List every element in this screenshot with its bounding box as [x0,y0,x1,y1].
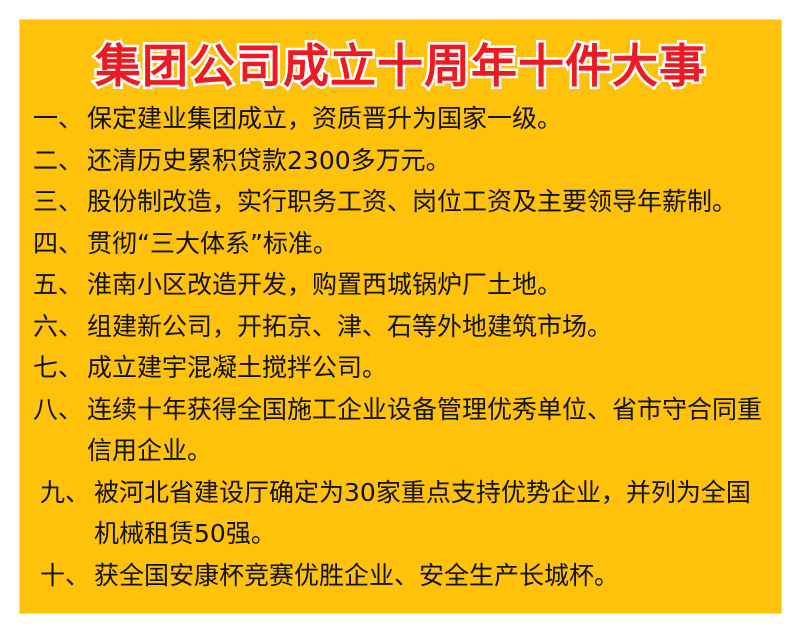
list-item: 一、 保定建业集团成立，资质晋升为国家一级。 [33,98,771,140]
list-item: 五、 淮南小区改造开发，购置西城锅炉厂土地。 [33,264,771,306]
list-item-text: 获全国安康杯竞赛优胜企业、安全生产长城杯。 [94,555,771,597]
list-item-number: 二、 [33,140,87,182]
list-item-number: 十、 [40,555,94,597]
list-item: 八、 连续十年获得全国施工企业设备管理优秀单位、省市守合同重信用企业。 [33,389,771,472]
list-item-number: 七、 [33,347,87,389]
list-item-text: 保定建业集团成立，资质晋升为国家一级。 [87,98,771,140]
list-item-number: 四、 [33,223,87,265]
list-item: 七、 成立建宇混凝土搅拌公司。 [33,347,771,389]
list-item-text: 被河北省建设厅确定为30家重点支持优势企业，并列为全国机械租赁50强。 [94,472,771,555]
list-item-text: 淮南小区改造开发，购置西城锅炉厂土地。 [87,264,771,306]
list-item: 二、 还清历史累积贷款2300多万元。 [33,140,771,182]
list-item: 十、 获全国安康杯竞赛优胜企业、安全生产长城杯。 [33,555,771,597]
list-item-text: 组建新公司，开拓京、津、石等外地建筑市场。 [87,306,771,348]
list-item-number: 六、 [33,306,87,348]
list-item-text: 还清历史累积贷款2300多万元。 [87,140,771,182]
list-item-text: 贯彻“三大体系”标准。 [87,223,771,265]
list-item-text: 连续十年获得全国施工企业设备管理优秀单位、省市守合同重信用企业。 [87,389,771,472]
list-item: 九、 被河北省建设厅确定为30家重点支持优势企业，并列为全国机械租赁50强。 [33,472,771,555]
list-item-number: 一、 [33,98,87,140]
list-item-number: 五、 [33,264,87,306]
list-item-number: 八、 [33,389,87,431]
list-item: 六、 组建新公司，开拓京、津、石等外地建筑市场。 [33,306,771,348]
event-list: 一、 保定建业集团成立，资质晋升为国家一级。 二、 还清历史累积贷款2300多万… [33,98,771,596]
list-item-number: 九、 [40,472,94,514]
title-bar: 集团公司成立十周年十件大事 [20,34,781,98]
list-item: 四、 贯彻“三大体系”标准。 [33,223,771,265]
list-item: 三、 股份制改造，实行职务工资、岗位工资及主要领导年薪制。 [33,181,771,223]
page-title: 集团公司成立十周年十件大事 [95,34,706,98]
poster-panel: 集团公司成立十周年十件大事 一、 保定建业集团成立，资质晋升为国家一级。 二、 … [19,19,782,614]
list-item-number: 三、 [33,181,87,223]
list-item-text: 股份制改造，实行职务工资、岗位工资及主要领导年薪制。 [87,181,771,223]
list-item-text: 成立建宇混凝土搅拌公司。 [87,347,771,389]
